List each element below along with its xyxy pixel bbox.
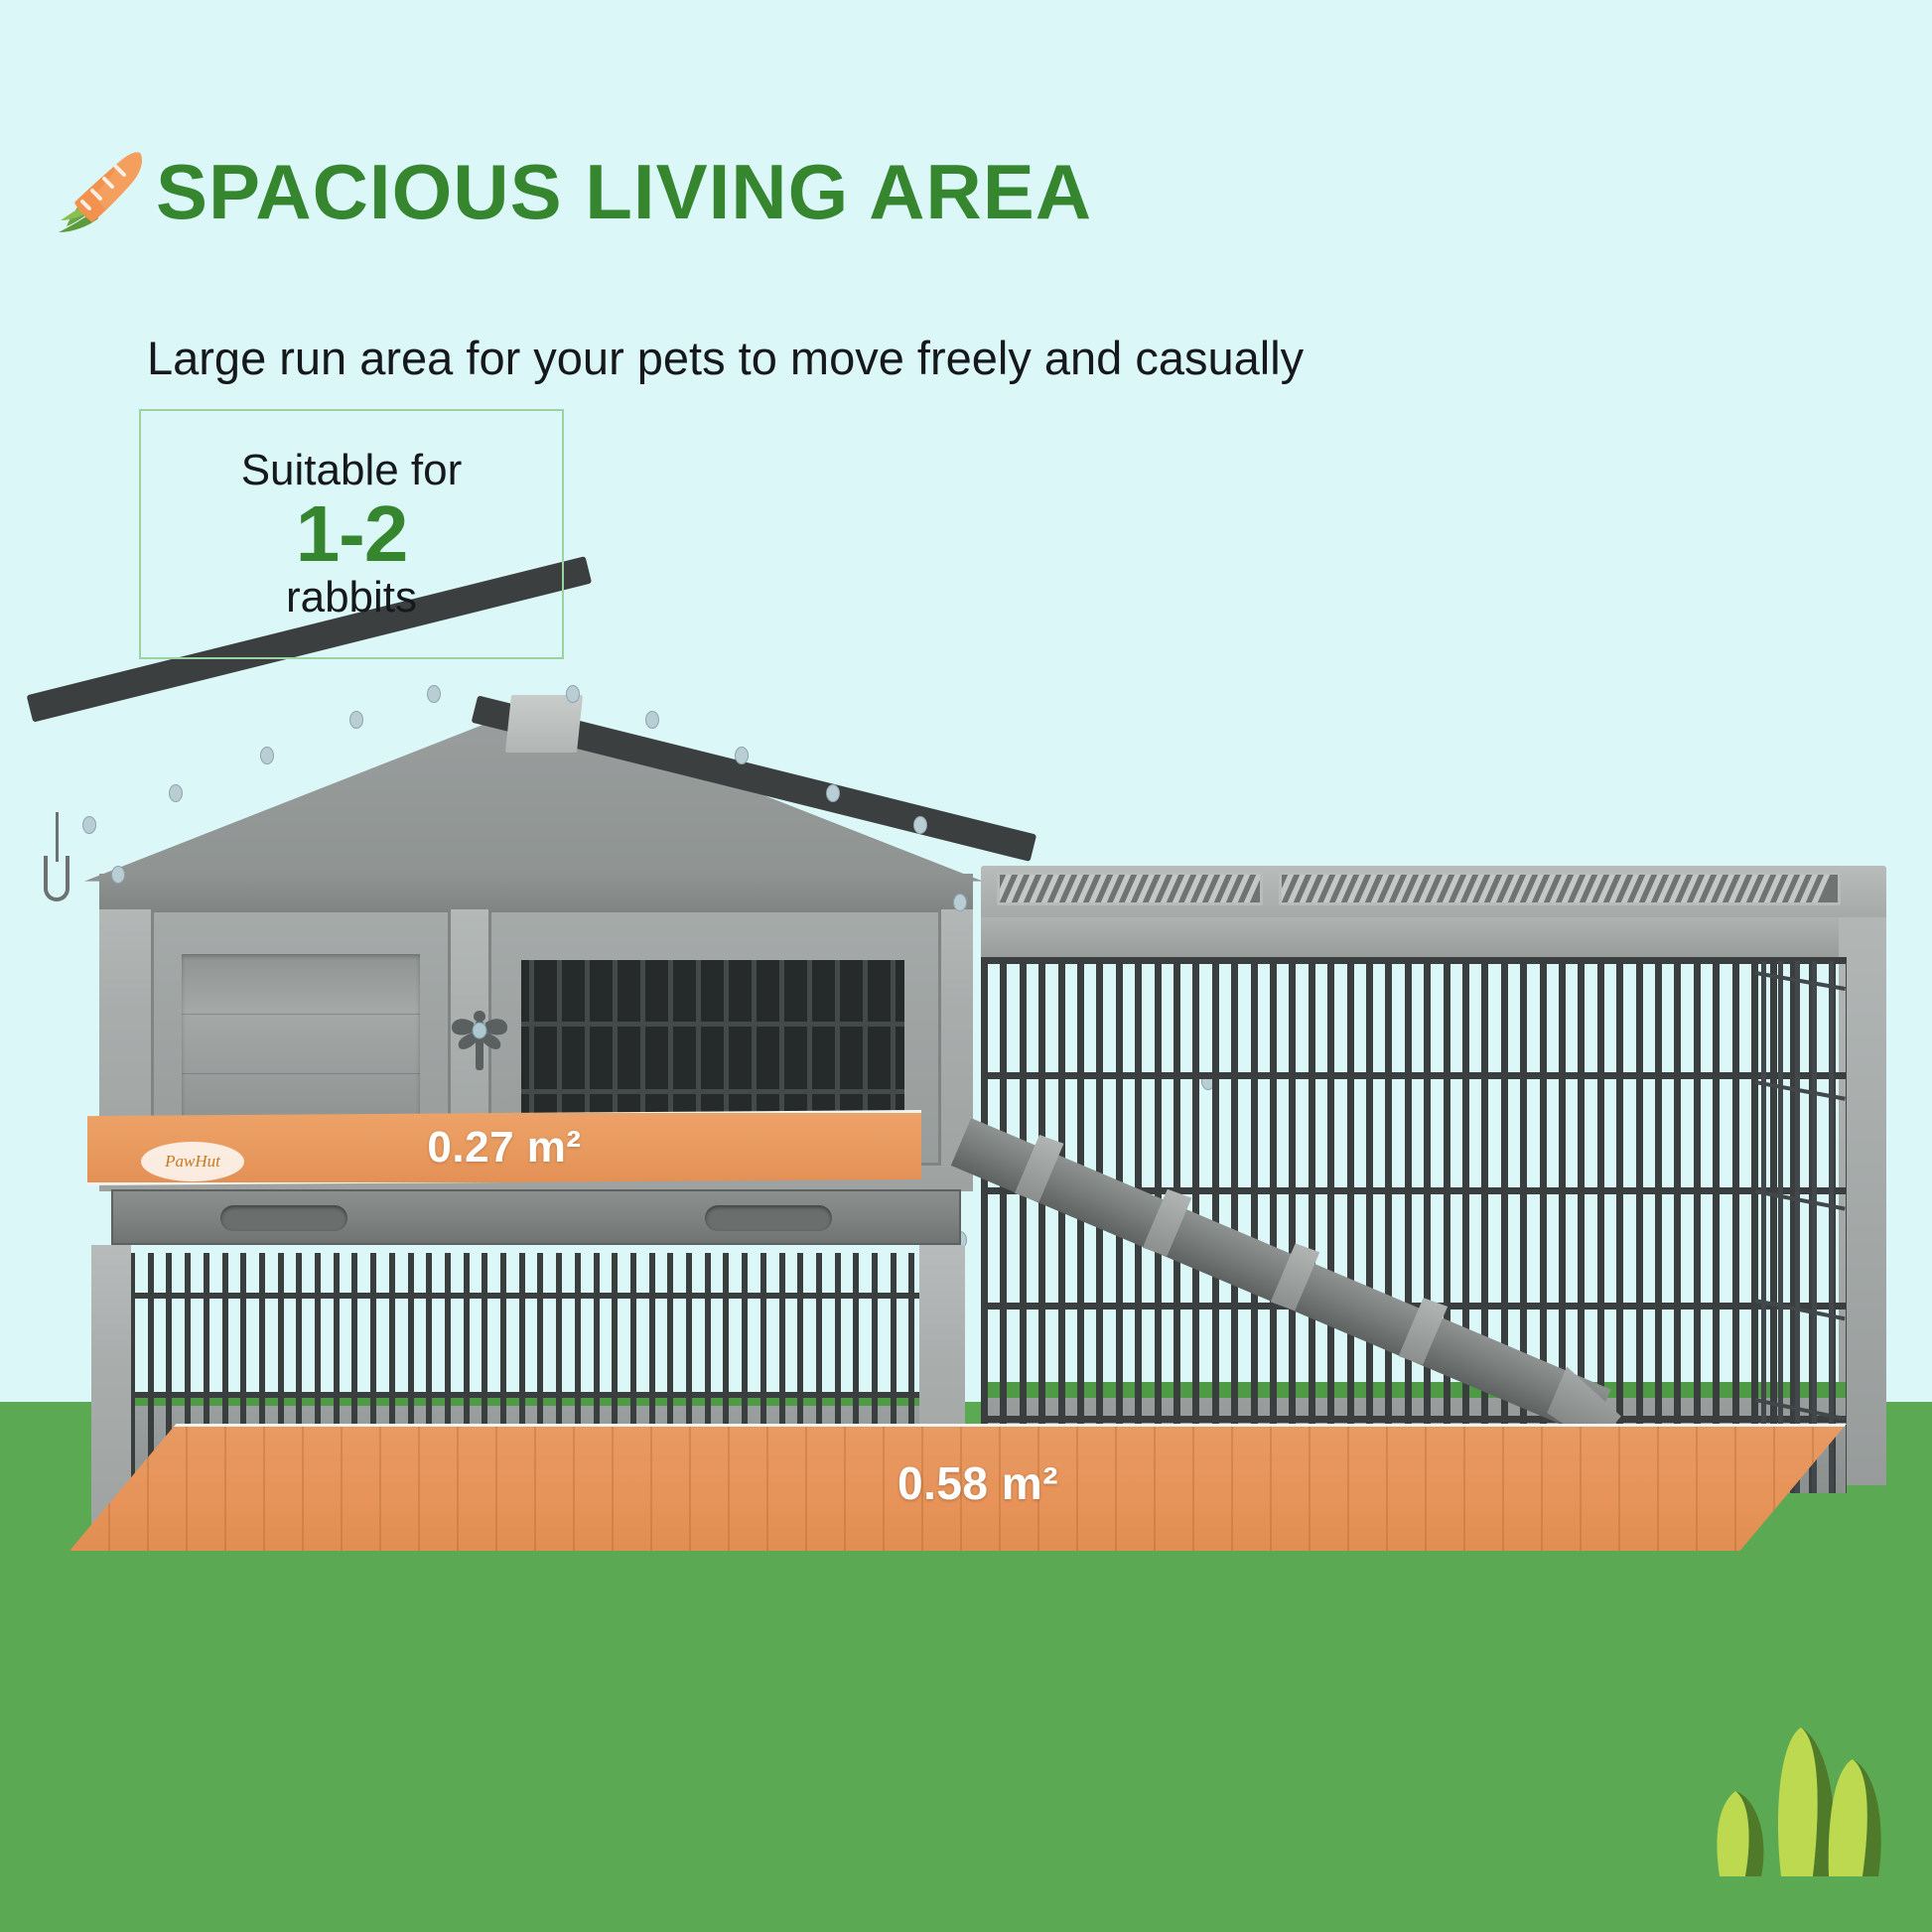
floor-plank: [650, 1427, 652, 1551]
roof-hook-line: [56, 812, 59, 862]
run-bar: [1655, 957, 1662, 1493]
roof-screw: [427, 685, 441, 703]
tray-handle-left[interactable]: [220, 1205, 347, 1231]
run-bar: [1058, 957, 1065, 1493]
run-rail: [981, 957, 1847, 964]
floor-plank: [1502, 1427, 1504, 1551]
run-bar: [1732, 957, 1739, 1493]
run-rail: [981, 1072, 1847, 1079]
floor-plank: [766, 1427, 768, 1551]
floor-plank: [1270, 1427, 1272, 1551]
floor-plank: [341, 1427, 343, 1551]
cage-rail: [129, 1293, 923, 1299]
run-rail: [981, 1416, 1847, 1423]
floor-plank: [689, 1427, 691, 1551]
brand-logo-text: PawHut: [165, 1152, 220, 1172]
floor-plank: [1192, 1427, 1194, 1551]
floor-plank: [1115, 1427, 1117, 1551]
run-bar: [1077, 957, 1084, 1493]
run-bar: [1444, 957, 1450, 1493]
floor-plank: [1463, 1427, 1465, 1551]
floor-plank: [573, 1427, 575, 1551]
title-row: SPACIOUS LIVING AREA: [55, 149, 1092, 234]
floor-plank: [534, 1427, 536, 1551]
run-bar: [1616, 957, 1623, 1493]
run-bar: [1309, 957, 1315, 1493]
run-bar: [1038, 957, 1045, 1493]
floor-plank: [728, 1427, 730, 1551]
suitable-for-count: 1-2: [296, 493, 408, 575]
run-bar: [1481, 957, 1488, 1493]
carrot-icon: [55, 149, 146, 234]
pull-out-tray[interactable]: [111, 1189, 961, 1245]
run-bar: [1231, 957, 1238, 1493]
roof-screw: [566, 685, 580, 703]
floor-plank: [1580, 1427, 1582, 1551]
suitable-for-box: Suitable for 1-2 rabbits: [139, 409, 564, 659]
run-bar: [1000, 957, 1007, 1493]
door-plank: [182, 1014, 420, 1015]
run-bar: [1424, 957, 1431, 1493]
floor-plank: [1347, 1427, 1349, 1551]
run-bar: [1501, 957, 1508, 1493]
brand-logo: PawHut: [141, 1142, 244, 1181]
roof-ridge-cap: [505, 695, 583, 753]
roof-screw: [260, 747, 274, 764]
hutch-top-rail: [99, 874, 973, 909]
run-bar: [1327, 957, 1334, 1493]
roof-screw: [82, 816, 96, 834]
floor-plank: [418, 1427, 420, 1551]
run-lid-right[interactable]: [1279, 872, 1841, 905]
floor-plank: [457, 1427, 459, 1551]
run-bar: [1713, 957, 1720, 1493]
door-plank: [182, 1073, 420, 1074]
suitable-for-unit: rabbits: [286, 575, 417, 621]
run-bar: [1251, 957, 1258, 1493]
floor-plank: [1309, 1427, 1311, 1551]
run-side-bar: [1761, 961, 1766, 1493]
roof-screw: [735, 747, 749, 764]
lower-area-label: 0.58 m²: [897, 1456, 1058, 1510]
run-bar: [1636, 957, 1643, 1493]
run-bar: [1385, 957, 1392, 1493]
tray-handle-right[interactable]: [705, 1205, 832, 1231]
floor-plank: [1386, 1427, 1388, 1551]
run-bar: [1462, 957, 1469, 1493]
floor-plank: [1541, 1427, 1543, 1551]
roof-screw: [645, 711, 659, 729]
run-bar: [1020, 957, 1027, 1493]
upper-area-label: 0.27 m²: [427, 1123, 581, 1173]
mesh-rail: [521, 1089, 904, 1094]
floor-plank: [302, 1427, 304, 1551]
floor-plank: [186, 1427, 188, 1551]
run-bar: [1366, 957, 1373, 1493]
roof-screw: [169, 784, 183, 802]
mesh-rail: [521, 1022, 904, 1027]
floor-plank: [224, 1427, 226, 1551]
lower-run-area-highlight: 0.58 m²: [69, 1424, 1847, 1551]
run-top-beam: [981, 917, 1886, 957]
dragonfly-latch-icon[interactable]: [449, 1007, 510, 1072]
floor-plank: [495, 1427, 497, 1551]
roof-hook-icon: [44, 856, 69, 901]
suitable-for-label: Suitable for: [241, 448, 463, 493]
roof-screw: [826, 784, 840, 802]
floor-plank: [1696, 1427, 1698, 1551]
floor-plank: [883, 1427, 885, 1551]
floor-plank: [612, 1427, 614, 1551]
floor-plank: [1734, 1427, 1736, 1551]
run-bar: [1520, 957, 1527, 1493]
run-bar: [1289, 957, 1296, 1493]
run-side-bar: [1846, 961, 1847, 1493]
run-bar: [981, 957, 988, 1493]
page-title: SPACIOUS LIVING AREA: [156, 153, 1092, 230]
run-lid-left[interactable]: [997, 872, 1263, 905]
floor-plank: [805, 1427, 807, 1551]
floor-plank: [844, 1427, 846, 1551]
floor-plank: [263, 1427, 265, 1551]
floor-plank: [1425, 1427, 1427, 1551]
floor-plank: [1618, 1427, 1620, 1551]
run-side-mesh: [1755, 961, 1847, 1493]
floor-plank: [379, 1427, 381, 1551]
run-bar: [1694, 957, 1701, 1493]
floor-plank: [1154, 1427, 1156, 1551]
floor-plank: [1657, 1427, 1659, 1551]
run-bar: [1270, 957, 1277, 1493]
run-bar: [1405, 957, 1412, 1493]
cage-rail: [129, 1392, 923, 1398]
roof-screw: [913, 816, 927, 834]
floor-plank: [69, 1427, 71, 1551]
frame-screw: [953, 894, 967, 911]
run-side-bar: [1795, 961, 1800, 1493]
grass-tuft-icon: [1678, 1688, 1896, 1876]
page-subtitle: Large run area for your pets to move fre…: [147, 331, 1304, 385]
floor-plank: [1076, 1427, 1078, 1551]
run-bar: [1674, 957, 1681, 1493]
frame-screw: [111, 866, 125, 884]
product-illustration: 0.27 m² PawHut 0.58 m²: [0, 0, 1932, 1932]
roof-screw: [349, 711, 363, 729]
run-bar: [1347, 957, 1354, 1493]
run-side-bar: [1778, 961, 1783, 1493]
floor-plank: [1231, 1427, 1233, 1551]
